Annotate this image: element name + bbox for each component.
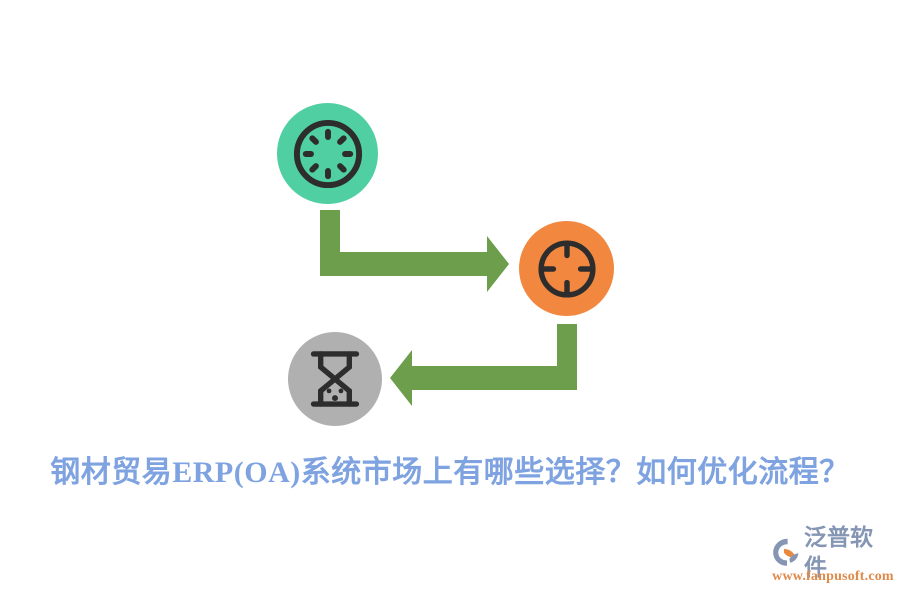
connector-layer [0,0,900,440]
screenshot-canvas: 钢材贸易ERP(OA)系统市场上有哪些选择？如何优化流程？ 泛普软件 www.f… [0,0,900,600]
arrow-target-to-wait [390,324,577,406]
node-target[interactable] [519,221,614,316]
node-wait[interactable] [288,332,382,426]
node-start[interactable] [277,103,378,204]
loading-spinner-icon [291,117,365,191]
page-title: 钢材贸易ERP(OA)系统市场上有哪些选择？如何优化流程？ [0,447,900,491]
crosshair-target-icon [533,235,601,303]
watermark: 泛普软件 www.fanpusoft.com [772,536,894,588]
process-flow-diagram [0,0,900,440]
fanpu-logo-icon [772,537,802,567]
arrow-start-to-target [320,210,509,292]
hourglass-icon [305,348,365,410]
watermark-brand-row: 泛普软件 [772,536,894,568]
watermark-url: www.fanpusoft.com [772,569,894,585]
